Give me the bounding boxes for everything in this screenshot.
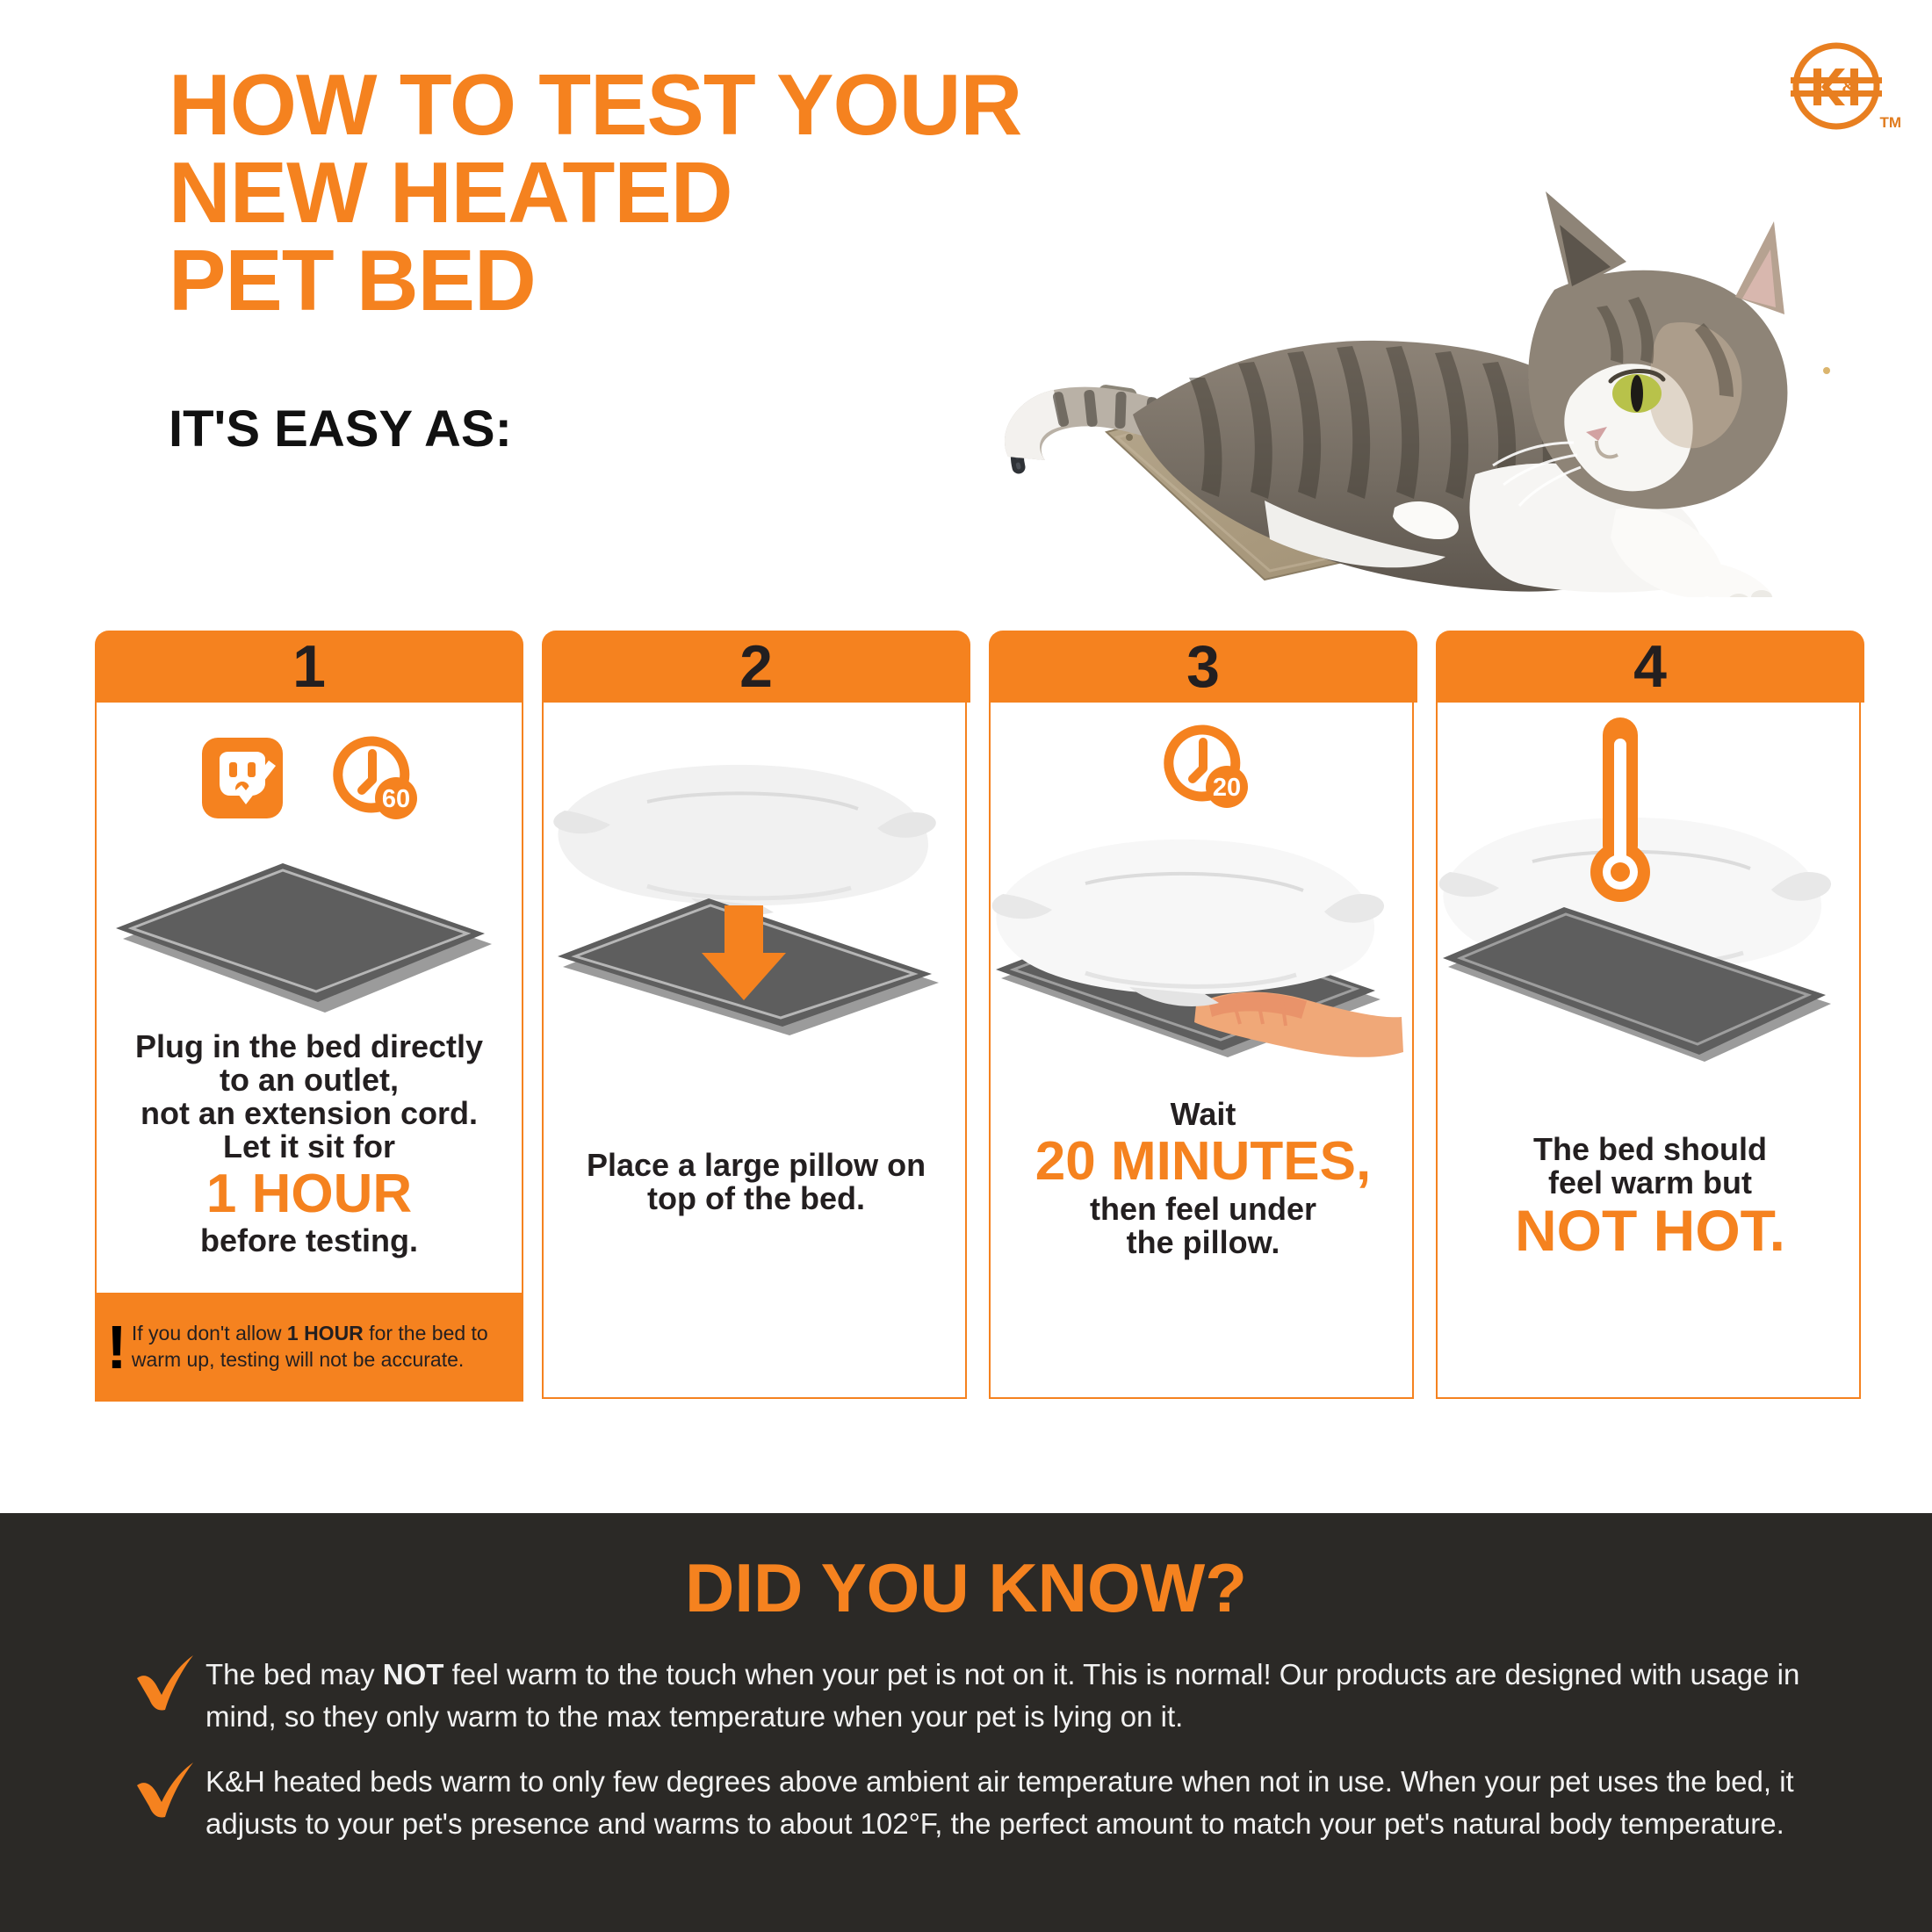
fact-text: K&H heated beds warm to only few degrees…: [205, 1761, 1818, 1845]
step-1-warning: ! If you don't allow 1 HOUR for the bed …: [95, 1293, 523, 1402]
check-icon: [132, 1654, 198, 1713]
page-title-line-2: NEW HEATED: [169, 149, 1047, 237]
step-number-1: 1: [95, 631, 523, 703]
clock-60-icon: 60: [327, 734, 418, 822]
step-3-caption-pre: Wait: [1171, 1096, 1236, 1132]
step-1-highlight: 1 HOUR: [107, 1164, 511, 1224]
outlet-check-icon: [200, 736, 285, 820]
step-4-caption: The bed should feel warm but NOT HOT.: [1448, 1133, 1852, 1263]
step-1-caption-line-1: Plug in the bed directly: [135, 1028, 483, 1064]
page-title-line-1: HOW TO TEST YOUR: [169, 61, 1047, 149]
step-3-caption: Wait 20 MINUTES, then feel under the pil…: [1001, 1098, 1405, 1259]
exclamation-icon: !: [95, 1320, 132, 1375]
step-card-3[interactable]: 3 20: [989, 631, 1417, 1402]
clock-badge-60: 60: [382, 785, 410, 813]
step-3-highlight: 20 MINUTES,: [1001, 1131, 1405, 1192]
warning-text-bold: 1 HOUR: [287, 1322, 364, 1344]
fact-2-after: K&H heated beds warm to only few degrees…: [205, 1765, 1794, 1840]
step-4-caption-line-2: feel warm but: [1548, 1164, 1752, 1200]
step-number-4: 4: [1436, 631, 1864, 703]
fact-1-bold: NOT: [383, 1658, 444, 1690]
step-1-caption-line-2: to an outlet,: [220, 1062, 399, 1098]
page-subtitle: IT'S EASY AS:: [169, 400, 512, 458]
cat-on-bed-illustration: [1001, 88, 1862, 597]
step-2-caption-line-2: top of the bed.: [647, 1180, 865, 1216]
check-icon-wrap: [132, 1654, 205, 1706]
step-3-caption-line-2: the pillow.: [1127, 1224, 1280, 1260]
step-1-icons: 60: [95, 734, 523, 822]
step-card-2[interactable]: 2 Place a large pillow on top of the: [542, 631, 970, 1402]
check-icon: [132, 1761, 198, 1820]
step-number-2: 2: [542, 631, 970, 703]
facts-list: The bed may NOT feel warm to the touch w…: [132, 1654, 1818, 1867]
check-icon-wrap: [132, 1761, 205, 1813]
heated-bed-icon: [95, 837, 523, 1021]
hand-under-pillow-icon: [989, 797, 1417, 1078]
page-title-line-3: PET BED: [169, 237, 1047, 325]
infographic-page: HOW TO TEST YOUR NEW HEATED PET BED IT'S…: [0, 0, 1932, 1932]
step-card-1[interactable]: 1 60: [95, 631, 523, 1402]
step-4-highlight: NOT HOT.: [1448, 1200, 1852, 1262]
pillow-over-bed-icon: [542, 732, 970, 1039]
step-1-caption-line-3: not an extension cord.: [141, 1095, 478, 1131]
page-title: HOW TO TEST YOUR NEW HEATED PET BED: [169, 61, 1047, 325]
fact-item: K&H heated beds warm to only few degrees…: [132, 1761, 1818, 1845]
step-3-caption-line-1: then feel under: [1090, 1191, 1316, 1227]
fact-1-after: feel warm to the touch when your pet is …: [205, 1658, 1799, 1733]
did-you-know-heading: DID YOU KNOW?: [0, 1548, 1932, 1628]
step-2-caption: Place a large pillow on top of the bed.: [554, 1149, 958, 1215]
fact-text: The bed may NOT feel warm to the touch w…: [205, 1654, 1818, 1738]
warning-text-before: If you don't allow: [132, 1322, 287, 1344]
thermometer-icon: [1590, 717, 1650, 902]
pillow-thermometer-icon: [1436, 714, 1864, 1083]
step-card-4[interactable]: 4: [1436, 631, 1864, 1402]
fact-1-before: The bed may: [205, 1658, 383, 1690]
step-1-caption-line-4: Let it sit for: [223, 1128, 395, 1164]
step-1-warning-text: If you don't allow 1 HOUR for the bed to…: [132, 1321, 523, 1373]
step-number-3: 3: [989, 631, 1417, 703]
step-1-caption: Plug in the bed directly to an outlet, n…: [107, 1030, 511, 1258]
step-2-caption-line-1: Place a large pillow on: [587, 1147, 926, 1183]
trademark-mark: TM: [1879, 114, 1901, 132]
hero-cat-photo: [1001, 88, 1862, 597]
step-1-caption-tail: before testing.: [200, 1222, 418, 1258]
did-you-know-section: DID YOU KNOW? The bed may NOT feel warm …: [0, 1513, 1932, 1932]
fact-item: The bed may NOT feel warm to the touch w…: [132, 1654, 1818, 1738]
step-4-caption-line-1: The bed should: [1533, 1131, 1767, 1167]
steps-row: 1 60: [0, 631, 1932, 1412]
